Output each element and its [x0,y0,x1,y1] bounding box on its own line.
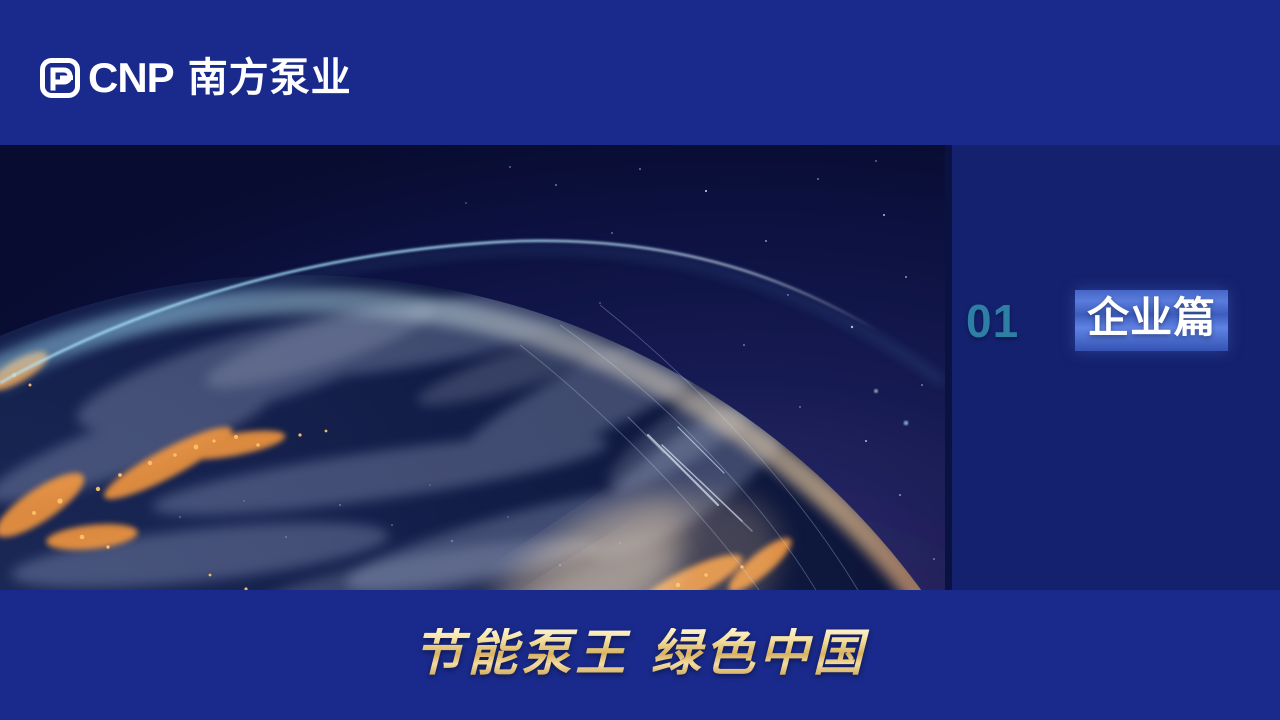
section-panel: 01 企业篇 [945,145,1280,590]
section-title-highlight: 企业篇 [1075,290,1228,350]
brand-latin-name: CNP [88,57,174,99]
brand-chinese-name: 南方泵业 [188,58,352,98]
slide-footer: 节能泵王 绿色中国 [0,590,1280,720]
slide-header: CNP 南方泵业 [0,0,1280,145]
section-title: 企业篇 [1087,293,1216,342]
section-heading: 01 企业篇 [952,283,1280,358]
panel-accent-rail [945,145,952,590]
section-number: 01 [966,298,1019,344]
slide-canvas: CNP 南方泵业 [0,0,1280,720]
hero-image [0,145,945,590]
footer-slogan: 节能泵王 绿色中国 [0,628,1280,678]
cnp-logo-mark-icon [40,58,80,98]
brand-logo: CNP 南方泵业 [40,52,352,104]
